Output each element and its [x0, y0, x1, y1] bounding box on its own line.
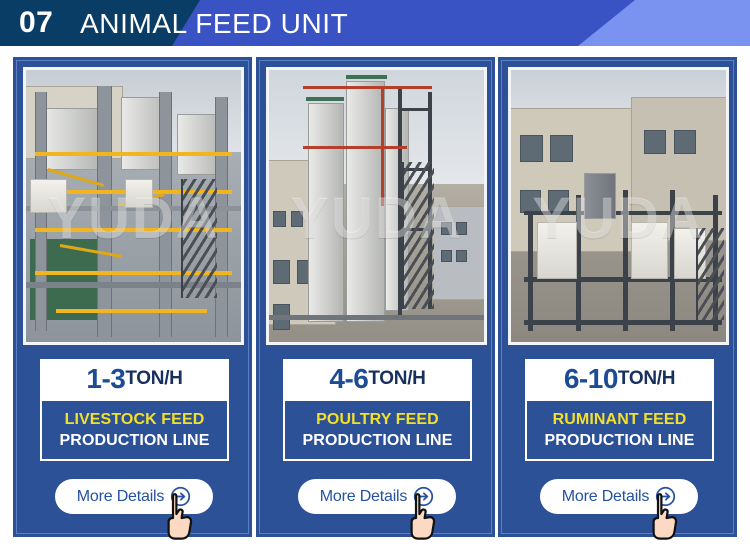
section-number: 07 [19, 7, 53, 39]
feed-type-name: LIVESTOCK FEED [65, 409, 205, 430]
feed-type-line: PRODUCTION LINE [303, 430, 453, 451]
feed-type-name: RUMINANT FEED [553, 409, 687, 430]
more-details-label: More Details [562, 488, 649, 506]
more-details-label: More Details [77, 488, 164, 506]
feed-type-name: POULTRY FEED [316, 409, 439, 430]
capacity-unit: TON/H [125, 368, 182, 390]
feed-type-box: RUMINANT FEED PRODUCTION LINE [525, 399, 714, 461]
card-photo: YUDA [508, 67, 729, 345]
feed-type-line: PRODUCTION LINE [60, 430, 210, 451]
photo-art-livestock: YUDA [26, 70, 241, 342]
capacity-unit: TON/H [618, 368, 675, 390]
more-details-label: More Details [320, 488, 407, 506]
more-details-area: More Details [298, 479, 458, 519]
photo-art-poultry: YUDA [269, 70, 484, 342]
capacity-badge: 4-6TON/H [283, 359, 472, 399]
capacity-badge: 1-3TON/H [40, 359, 229, 399]
capacity-number: 6-10 [564, 365, 618, 393]
page-title: ANIMAL FEED UNIT [80, 8, 348, 40]
capacity-badge: 6-10TON/H [525, 359, 714, 399]
capacity-unit: TON/H [368, 368, 425, 390]
feed-type-box: LIVESTOCK FEED PRODUCTION LINE [40, 399, 229, 461]
hand-pointer-icon [402, 492, 442, 540]
card-photo: YUDA [23, 67, 244, 345]
capacity-number: 4-6 [329, 365, 368, 393]
capacity-number: 1-3 [86, 365, 125, 393]
page-header: 07 ANIMAL FEED UNIT [0, 0, 750, 46]
feed-type-box: POULTRY FEED PRODUCTION LINE [283, 399, 472, 461]
more-details-area: More Details [540, 479, 700, 519]
hand-pointer-icon [159, 492, 199, 540]
photo-art-ruminant: YUDA [511, 70, 726, 342]
feed-type-line: PRODUCTION LINE [545, 430, 695, 451]
more-details-area: More Details [55, 479, 215, 519]
card-row: YUDA 1-3TON/H LIVESTOCK FEED PRODUCTION … [0, 46, 750, 553]
product-card-ruminant[interactable]: YUDA 6-10TON/H RUMINANT FEED PRODUCTION … [498, 57, 737, 537]
product-card-poultry[interactable]: YUDA 4-6TON/H POULTRY FEED PRODUCTION LI… [256, 57, 495, 537]
card-photo: YUDA [266, 67, 487, 345]
product-card-livestock[interactable]: YUDA 1-3TON/H LIVESTOCK FEED PRODUCTION … [13, 57, 252, 537]
hand-pointer-icon [644, 492, 684, 540]
